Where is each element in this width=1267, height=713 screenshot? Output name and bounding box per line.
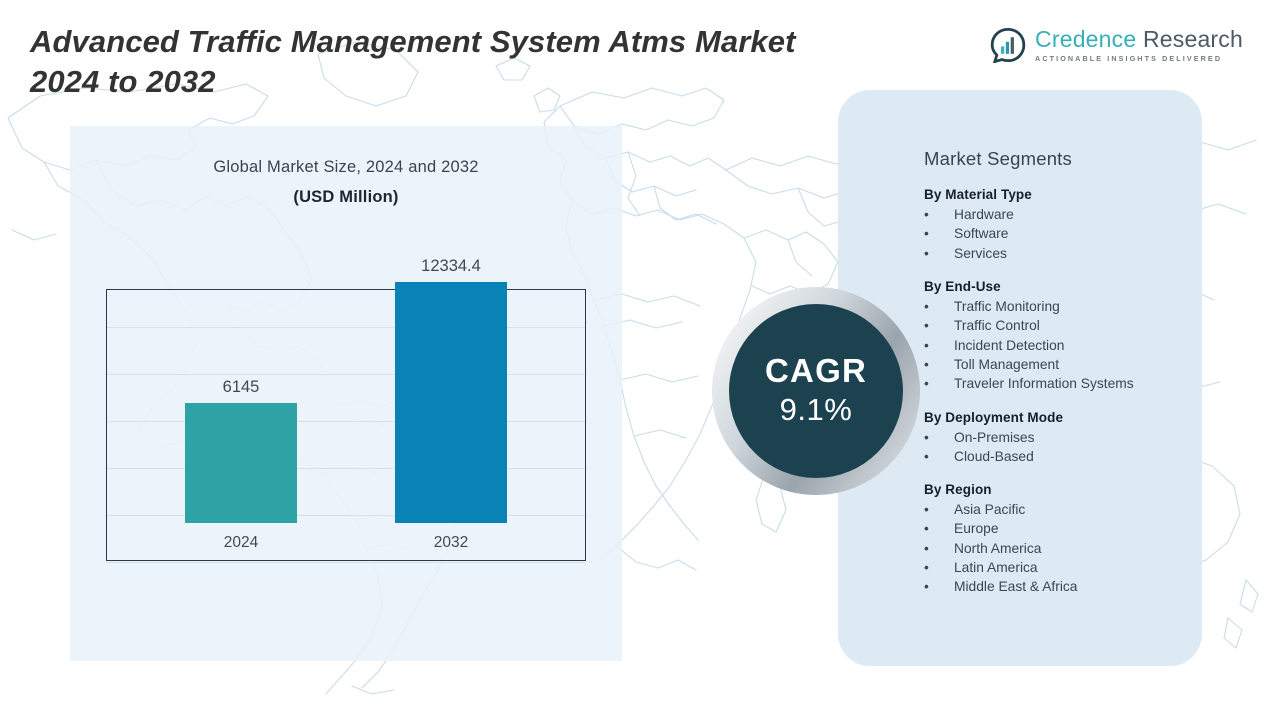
gridline	[107, 562, 585, 563]
bar-chart-plot: 6145202412334.42032	[106, 289, 586, 561]
segment-item-label: Traffic Monitoring	[954, 297, 1060, 316]
logo-tagline: Actionable Insights Delivered	[1035, 55, 1243, 62]
segment-group: By Material Type•Hardware•Software•Servi…	[838, 187, 1202, 263]
segment-item-label: Toll Management	[954, 355, 1059, 374]
segment-item-label: Hardware	[954, 205, 1014, 224]
bar-2032	[395, 282, 507, 523]
segment-item-label: Middle East & Africa	[954, 577, 1077, 596]
bullet-icon: •	[924, 355, 954, 374]
segment-item-label: Traveler Information Systems	[954, 374, 1134, 393]
cagr-circle: CAGR 9.1%	[729, 304, 903, 478]
segment-group-heading: By Region	[924, 482, 1202, 497]
bar-value-label-2024: 6145	[151, 378, 331, 397]
chart-title: Global Market Size, 2024 and 2032	[70, 158, 622, 177]
segment-item: •North America	[924, 539, 1202, 558]
segment-item: •Traffic Control	[924, 316, 1202, 335]
segment-item: •On-Premises	[924, 428, 1202, 447]
bar-value-label-2032: 12334.4	[361, 257, 541, 276]
segment-item: •Hardware	[924, 205, 1202, 224]
segment-item: •Software	[924, 224, 1202, 243]
brand-logo: Credence Research Actionable Insights De…	[990, 27, 1243, 63]
bullet-icon: •	[924, 205, 954, 224]
bullet-icon: •	[924, 316, 954, 335]
segment-item-label: Europe	[954, 519, 999, 538]
segment-item-label: Asia Pacific	[954, 500, 1025, 519]
bar-category-label-2024: 2024	[171, 534, 311, 552]
segment-item-label: Latin America	[954, 558, 1038, 577]
segment-item: •Latin America	[924, 558, 1202, 577]
bar-2024	[185, 403, 297, 523]
gridline	[107, 327, 585, 328]
logo-wordmark: Credence Research Actionable Insights De…	[1035, 28, 1243, 62]
bullet-icon: •	[924, 244, 954, 263]
gridline	[107, 421, 585, 422]
segment-item-label: Traffic Control	[954, 316, 1040, 335]
segment-item-label: Cloud-Based	[954, 447, 1034, 466]
credence-bar-chart-bubble-icon	[990, 27, 1026, 63]
infographic-page: Advanced Traffic Management System Atms …	[0, 0, 1267, 713]
page-title: Advanced Traffic Management System Atms …	[30, 22, 990, 103]
bullet-icon: •	[924, 500, 954, 519]
gridline	[107, 468, 585, 469]
bullet-icon: •	[924, 519, 954, 538]
logo-name-part2: Research	[1143, 26, 1243, 52]
logo-name: Credence Research	[1035, 28, 1243, 51]
segment-item: •Cloud-Based	[924, 447, 1202, 466]
gridline	[107, 374, 585, 375]
bullet-icon: •	[924, 428, 954, 447]
segment-item-label: Software	[954, 224, 1008, 243]
chart-subtitle: (USD Million)	[70, 188, 622, 207]
bullet-icon: •	[924, 374, 954, 393]
bullet-icon: •	[924, 224, 954, 243]
segment-item-label: On-Premises	[954, 428, 1035, 447]
segment-item: •Services	[924, 244, 1202, 263]
page-title-line2: 2024 to 2032	[30, 62, 990, 102]
chart-panel: Global Market Size, 2024 and 2032 (USD M…	[70, 126, 622, 661]
cagr-value: 9.1%	[780, 392, 853, 428]
segment-item-label: Services	[954, 244, 1007, 263]
segment-item: •Traveler Information Systems	[924, 374, 1202, 393]
bullet-icon: •	[924, 336, 954, 355]
segment-item: •Asia Pacific	[924, 500, 1202, 519]
segment-item-label: Incident Detection	[954, 336, 1064, 355]
gridline	[107, 515, 585, 516]
segment-group-heading: By Material Type	[924, 187, 1202, 202]
bullet-icon: •	[924, 539, 954, 558]
page-title-line1: Advanced Traffic Management System Atms …	[30, 22, 990, 62]
segment-item: •Europe	[924, 519, 1202, 538]
cagr-label: CAGR	[765, 354, 867, 389]
segment-item: •Incident Detection	[924, 336, 1202, 355]
segment-item: •Toll Management	[924, 355, 1202, 374]
segment-group-heading: By End-Use	[924, 279, 1202, 294]
chart-gridlines	[107, 290, 585, 560]
logo-name-part1: Credence	[1035, 26, 1136, 52]
market-segments-title: Market Segments	[924, 148, 1202, 170]
cagr-badge: CAGR 9.1%	[712, 287, 920, 495]
segment-item: •Middle East & Africa	[924, 577, 1202, 596]
bullet-icon: •	[924, 297, 954, 316]
segment-item-label: North America	[954, 539, 1041, 558]
segment-group: By Region•Asia Pacific•Europe•North Amer…	[838, 482, 1202, 597]
bullet-icon: •	[924, 577, 954, 596]
bullet-icon: •	[924, 447, 954, 466]
segment-group-heading: By Deployment Mode	[924, 410, 1202, 425]
bar-category-label-2032: 2032	[381, 534, 521, 552]
bullet-icon: •	[924, 558, 954, 577]
segment-item: •Traffic Monitoring	[924, 297, 1202, 316]
